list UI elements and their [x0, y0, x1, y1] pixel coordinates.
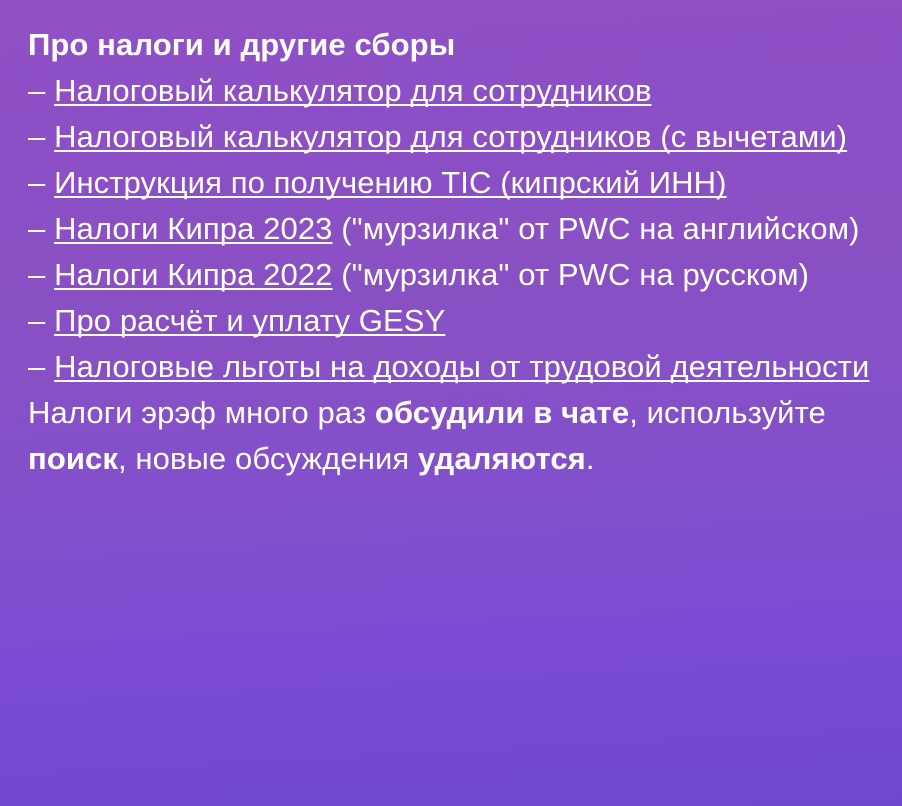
closing-bold-discussed-in-chat: обсудили в чате [375, 395, 629, 430]
closing-text-part4: . [586, 441, 595, 476]
closing-bold-deleted: удаляются [418, 441, 586, 476]
link-trailing-text-cyprus-taxes-2023: ("мурзилка" от PWC на английском) [333, 211, 860, 246]
bullet-dash-icon: – [28, 257, 45, 292]
bullet-dash-icon: – [28, 211, 45, 246]
link-row-cyprus-taxes-2022: – Налоги Кипра 2022 ("мурзилка" от PWC н… [28, 252, 878, 298]
bullet-dash-icon: – [28, 73, 45, 108]
bullet-dash-icon: – [28, 165, 45, 200]
message-text-body: Про налоги и другие сборы – Налоговый ка… [28, 22, 878, 482]
link-row-cyprus-taxes-2023: – Налоги Кипра 2023 ("мурзилка" от PWC н… [28, 206, 878, 252]
closing-text-part3: , новые обсуждения [118, 441, 418, 476]
link-row-tax-calculator-deductions: – Налоговый калькулятор для сотрудников … [28, 114, 878, 160]
link-cyprus-taxes-2023[interactable]: Налоги Кипра 2023 [54, 211, 332, 246]
link-row-tax-benefits: – Налоговые льготы на доходы от трудовой… [28, 344, 878, 390]
link-row-gesy: – Про расчёт и уплату GESY [28, 298, 878, 344]
link-tax-calculator[interactable]: Налоговый калькулятор для сотрудников [54, 73, 652, 108]
closing-text-part2: , используйте [629, 395, 826, 430]
link-tax-benefits[interactable]: Налоговые льготы на доходы от трудовой д… [54, 349, 869, 384]
link-trailing-text-cyprus-taxes-2022: ("мурзилка" от PWC на русском) [333, 257, 810, 292]
link-gesy[interactable]: Про расчёт и уплату GESY [54, 303, 445, 338]
link-tic-instruction[interactable]: Инструкция по получению TIC (кипрский ИН… [54, 165, 726, 200]
link-tax-calculator-deductions[interactable]: Налоговый калькулятор для сотрудников (с… [54, 119, 847, 154]
link-cyprus-taxes-2022[interactable]: Налоги Кипра 2022 [54, 257, 332, 292]
closing-text-part1: Налоги эрэф много раз [28, 395, 375, 430]
message-card: Про налоги и другие сборы – Налоговый ка… [0, 0, 902, 806]
bullet-dash-icon: – [28, 303, 45, 338]
bullet-dash-icon: – [28, 349, 45, 384]
message-heading: Про налоги и другие сборы [28, 22, 878, 68]
closing-paragraph: Налоги эрэф много раз обсудили в чате, и… [28, 390, 878, 482]
link-row-tax-calculator: – Налоговый калькулятор для сотрудников [28, 68, 878, 114]
bullet-dash-icon: – [28, 119, 45, 154]
closing-bold-search: поиск [28, 441, 118, 476]
link-row-tic-instruction: – Инструкция по получению TIC (кипрский … [28, 160, 878, 206]
